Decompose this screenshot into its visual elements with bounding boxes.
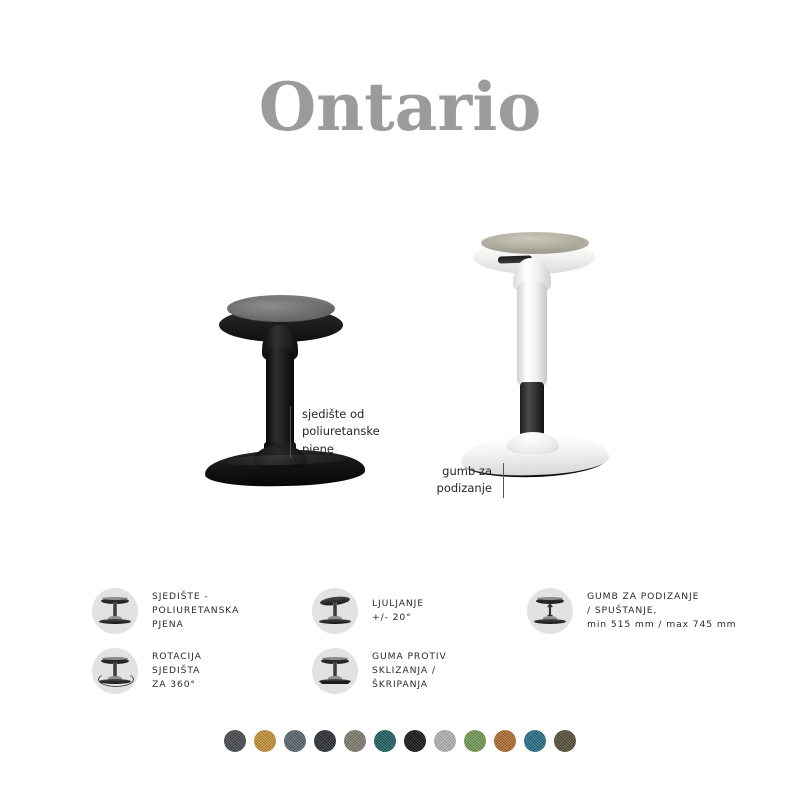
feature-label: SJEDIŠTE - POLIURETANSKA PJENA — [152, 590, 239, 633]
feature-item-height-adjust: GUMB ZA PODIZANJE / SPUŠTANJE, min 515 m… — [527, 588, 737, 634]
color-swatch[interactable] — [434, 730, 456, 752]
color-swatch[interactable] — [284, 730, 306, 752]
stool-rubber-icon — [312, 648, 358, 694]
stool-lift-icon — [527, 588, 573, 634]
feature-item-rotation: ROTACIJA SJEDIŠTA ZA 360° — [92, 648, 202, 694]
feature-item-tilt: LJULJANJE +/- 20° — [312, 588, 424, 634]
color-swatch[interactable] — [494, 730, 516, 752]
stool-rotate-icon — [92, 648, 138, 694]
column-upper — [517, 282, 547, 387]
color-swatch[interactable] — [344, 730, 366, 752]
feature-list: SJEDIŠTE - POLIURETANSKA PJENA ROTACIJA … — [0, 580, 800, 700]
color-swatch[interactable] — [404, 730, 426, 752]
feature-item-anti-slip: GUMA PROTIV SKLIZANJA / ŠKRIPANJA — [312, 648, 447, 694]
color-swatch[interactable] — [374, 730, 396, 752]
color-swatch[interactable] — [464, 730, 486, 752]
stool-seat-icon — [92, 588, 138, 634]
feature-label: ROTACIJA SJEDIŠTA ZA 360° — [152, 650, 202, 693]
page-title: Ontario — [0, 68, 800, 146]
callout-seat-material: sjedište od poliuretanske pjene — [290, 406, 380, 458]
feature-item-seat-foam: SJEDIŠTE - POLIURETANSKA PJENA — [92, 588, 239, 634]
color-swatch[interactable] — [554, 730, 576, 752]
feature-label: LJULJANJE +/- 20° — [372, 597, 424, 626]
feature-label: GUMA PROTIV SKLIZANJA / ŠKRIPANJA — [372, 650, 447, 693]
color-swatch[interactable] — [524, 730, 546, 752]
color-swatch[interactable] — [314, 730, 336, 752]
product-image-stool-white — [455, 232, 615, 480]
feature-label: GUMB ZA PODIZANJE / SPUŠTANJE, min 515 m… — [587, 590, 737, 633]
product-image-area: sjedište od poliuretanske pjene gumb za … — [0, 170, 800, 520]
color-swatch-row — [0, 730, 800, 752]
product-sheet: Ontario sjedište od poliuret — [0, 0, 800, 800]
color-swatch[interactable] — [254, 730, 276, 752]
seat-fabric-top — [485, 233, 585, 249]
color-swatch[interactable] — [224, 730, 246, 752]
stool-tilt-icon — [312, 588, 358, 634]
callout-lift-button: gumb za podizanje — [400, 463, 504, 498]
seat-fabric-top — [228, 299, 334, 321]
